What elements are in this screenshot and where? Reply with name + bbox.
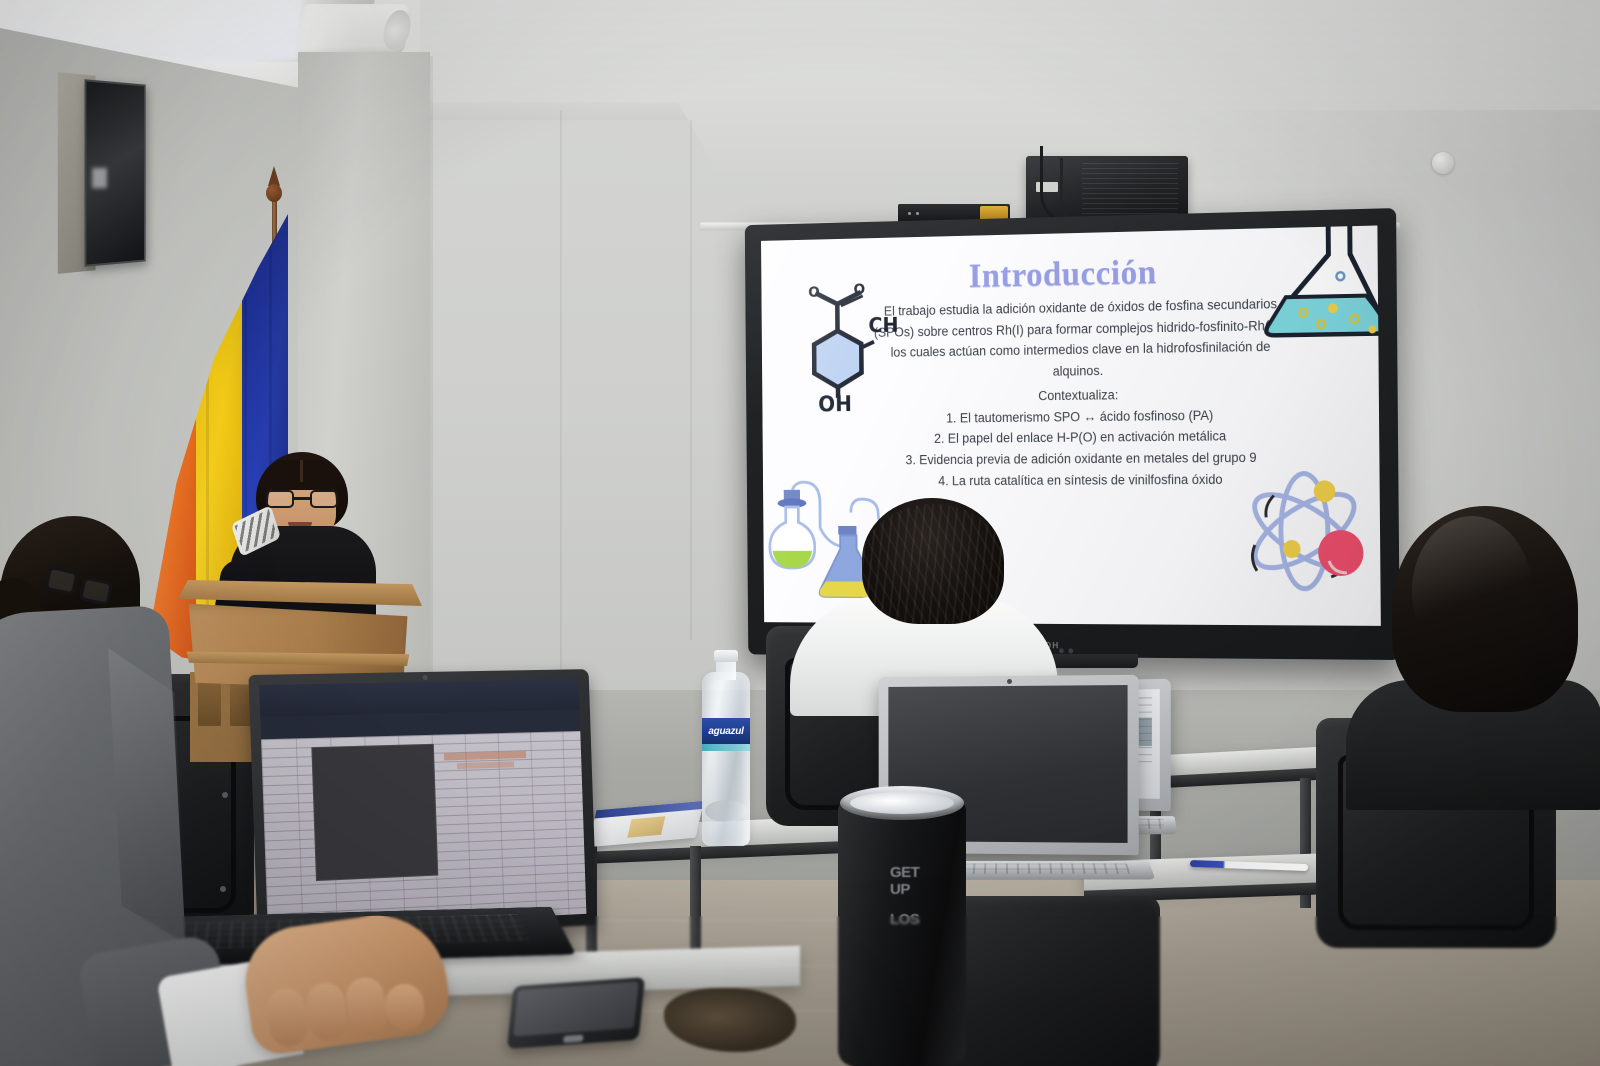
braid-texture — [860, 504, 1008, 630]
laptop-front[interactable] — [248, 669, 597, 943]
svg-text:CH: CH — [868, 313, 898, 337]
wall-seam — [430, 56, 433, 676]
bottle-label: aguazul — [702, 718, 750, 744]
flag-finial — [262, 166, 286, 210]
water-bottle[interactable]: aguazul — [702, 650, 750, 846]
eyeglasses — [266, 490, 338, 508]
svg-text:O: O — [853, 282, 865, 298]
tumbler-body: GETUP LOS — [838, 802, 966, 1066]
atom-diagram-icon — [1231, 461, 1379, 601]
laptop-front-screen — [259, 679, 586, 930]
molecule-structure-icon: O O CH OH — [796, 287, 904, 411]
display-indicator-leds — [1059, 648, 1073, 653]
bottle-cap — [714, 650, 738, 662]
podium — [178, 580, 422, 680]
wall-seam — [690, 120, 692, 640]
smartphone[interactable] — [507, 977, 645, 1049]
wall-knob — [1432, 152, 1454, 174]
phone-home-button[interactable] — [563, 1035, 584, 1043]
travel-tumbler[interactable]: GETUP LOS — [838, 786, 966, 1066]
podium-top — [178, 580, 422, 606]
tumbler-lid-inner — [850, 792, 954, 814]
bottle-waist — [705, 800, 747, 822]
audience-member-right — [1372, 506, 1600, 796]
presentation-room-photo: O O CH OH — [0, 0, 1600, 1066]
air-vent — [295, 4, 412, 56]
slide-paragraph: El trabajo estudia la adición oxidante d… — [868, 293, 1294, 385]
phone-screen — [513, 982, 639, 1037]
hair-highlight — [1412, 516, 1532, 666]
svg-text:O: O — [808, 285, 820, 301]
tumbler-graphic: GETUP LOS — [890, 864, 956, 1004]
power-cable — [1060, 158, 1104, 224]
bottle-brand-text: aguazul — [708, 726, 743, 737]
wall-seam — [560, 110, 562, 670]
svg-text:OH: OH — [818, 392, 852, 417]
wall-mounted-fixture — [85, 79, 146, 267]
hair-part — [300, 460, 303, 482]
flask-icon — [1256, 226, 1381, 340]
